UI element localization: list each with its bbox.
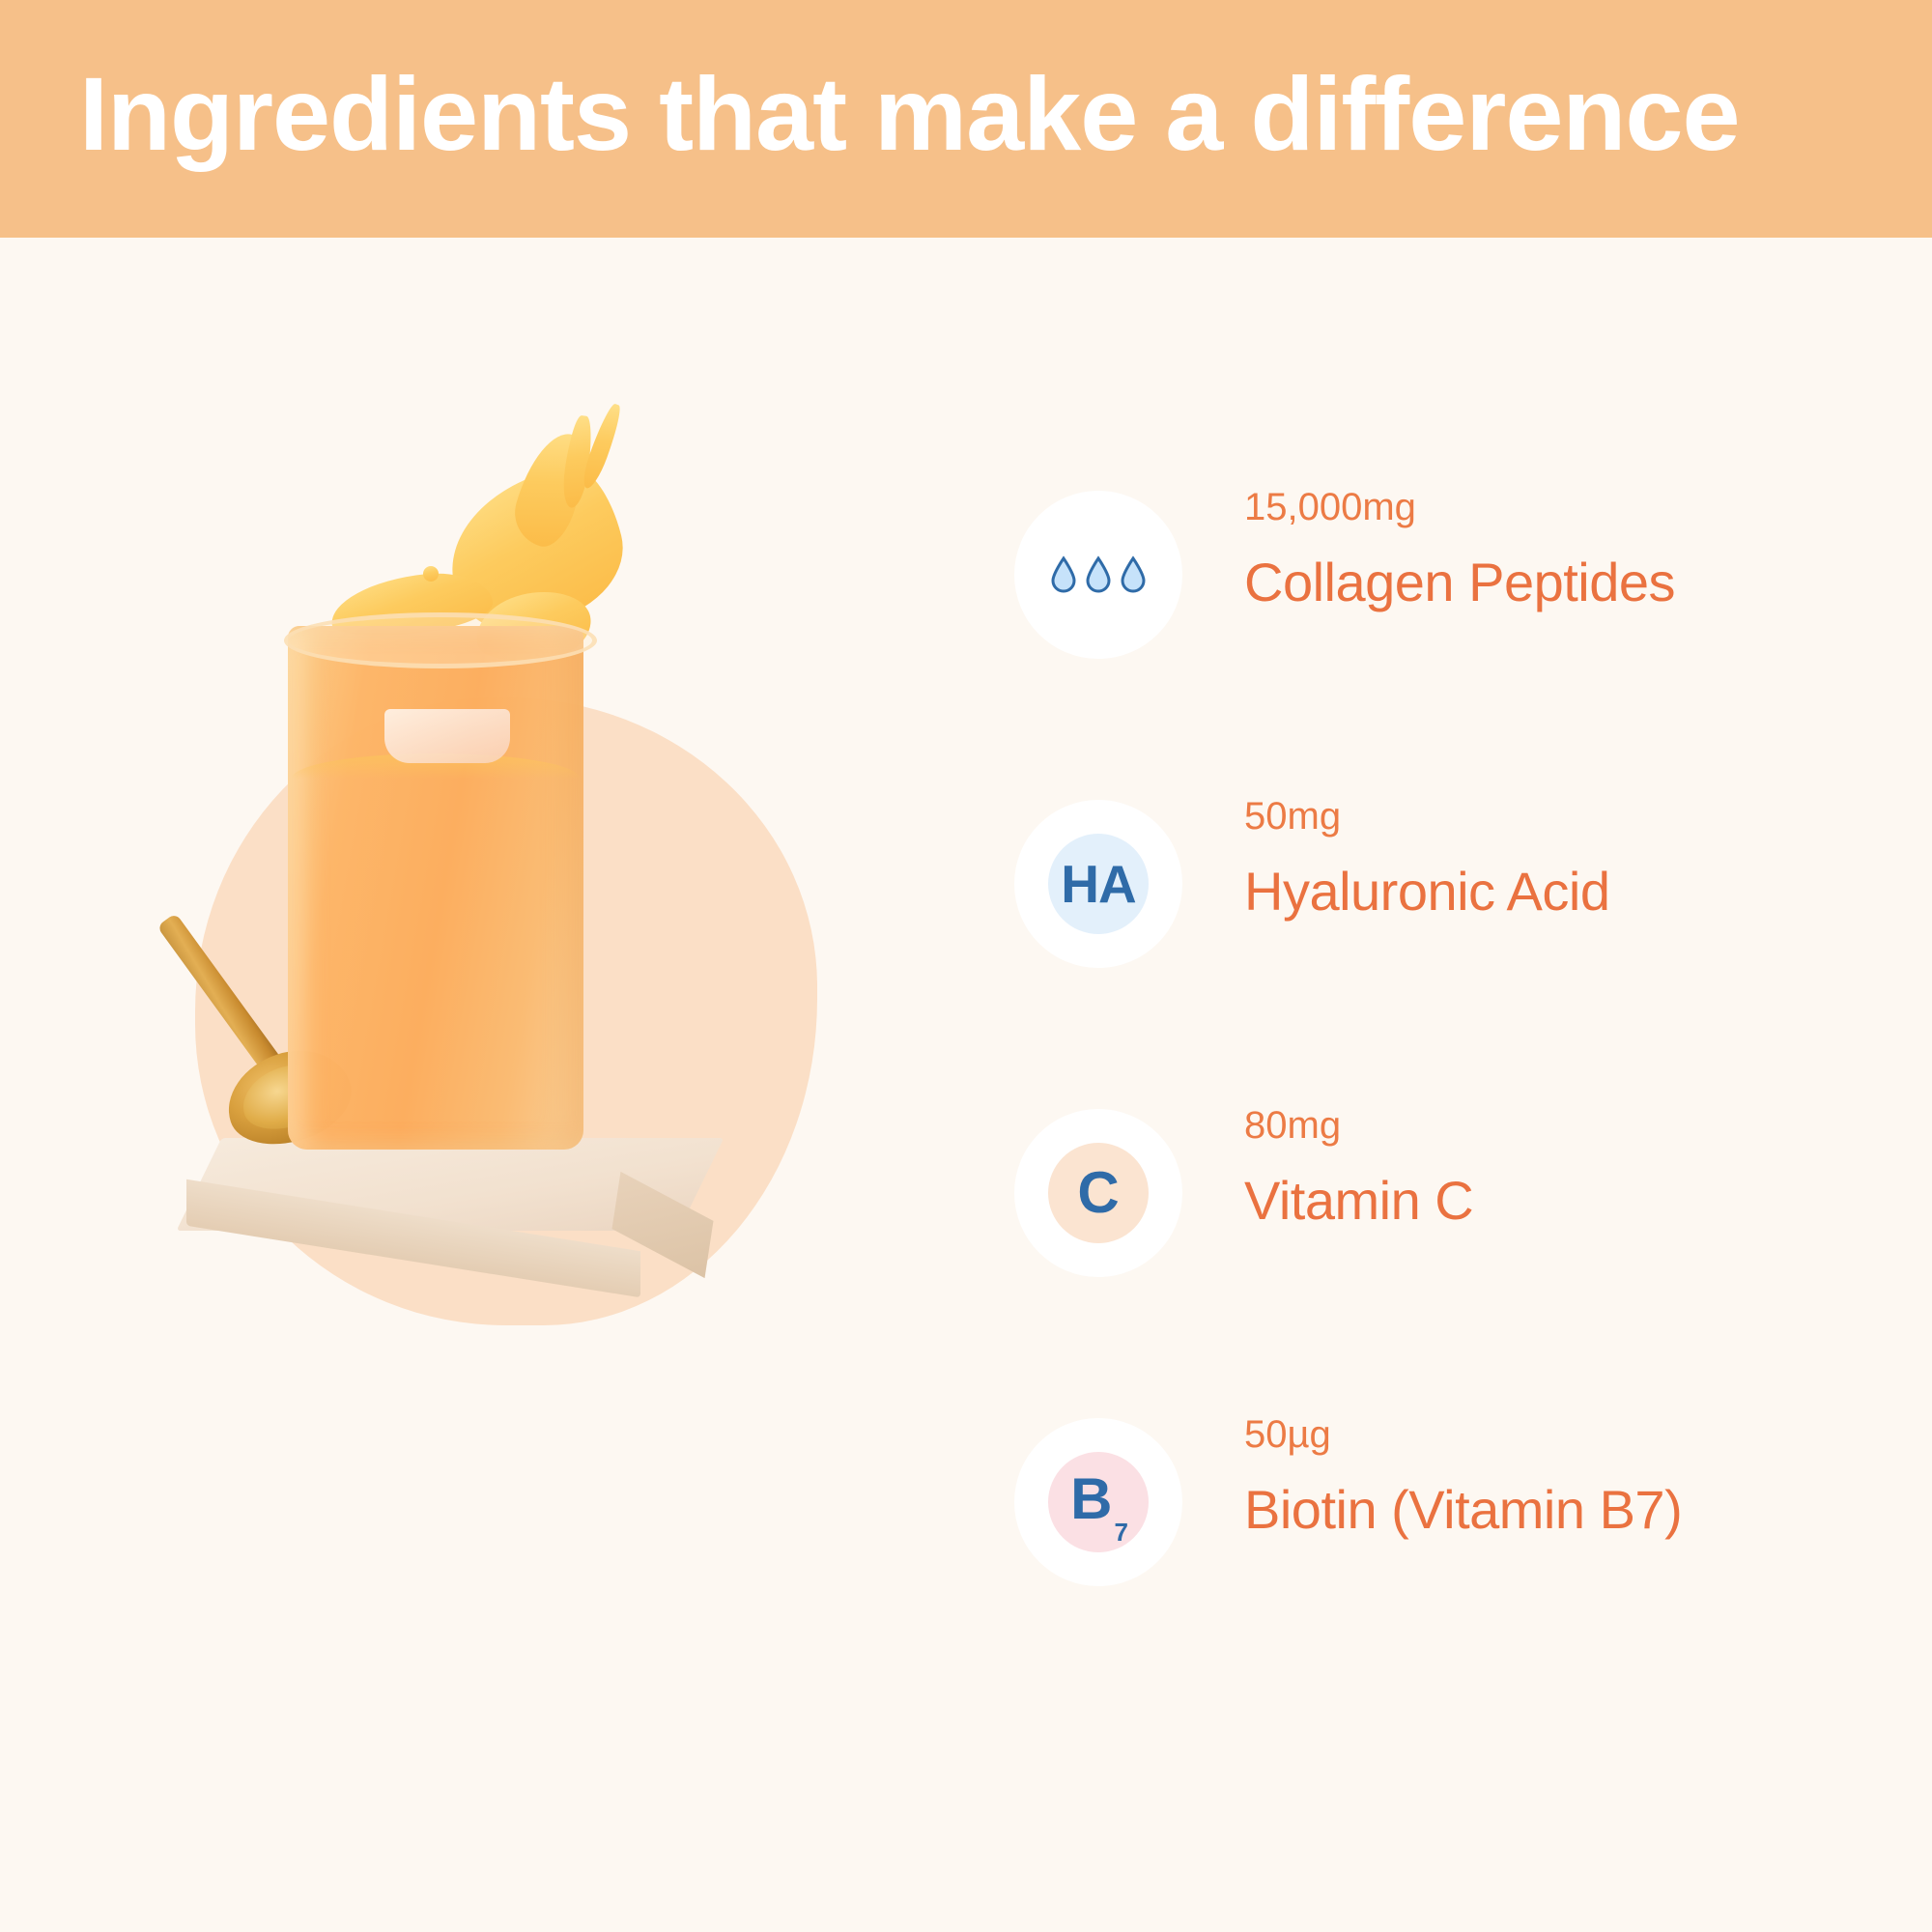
- splash-droplet: [423, 566, 439, 582]
- vitamin-b7-letter-icon: B7: [1070, 1470, 1126, 1535]
- water-droplet-icon: [1084, 555, 1113, 594]
- ingredient-name: Vitamin C: [1244, 1163, 1473, 1238]
- biotin-icon-badge: B7: [1014, 1418, 1182, 1586]
- glass-rim: [284, 612, 597, 668]
- hyaluronic-acid-text-block: 50mg Hyaluronic Acid: [1244, 792, 1609, 929]
- vitamin-c-icon-accent-circle: C: [1048, 1143, 1149, 1243]
- stone-coaster: [182, 1138, 715, 1293]
- collagen-text-block: 15,000mg Collagen Peptides: [1244, 483, 1675, 620]
- ingredient-name: Hyaluronic Acid: [1244, 854, 1609, 929]
- drinking-glass: [288, 626, 583, 1150]
- biotin-icon-accent-circle: B7: [1048, 1452, 1149, 1552]
- vitamin-c-letter-icon: C: [1077, 1164, 1119, 1222]
- ha-letters-icon: HA: [1061, 858, 1135, 911]
- ingredient-item-vitamin-c: C 80mg Vitamin C: [1014, 1101, 1884, 1339]
- ingredient-item-collagen-peptides: 15,000mg Collagen Peptides: [1014, 483, 1884, 721]
- vitamin-c-icon-badge: C: [1014, 1109, 1182, 1277]
- infographic-page: Ingredients that make a difference: [0, 0, 1932, 1932]
- ingredient-dose: 80mg: [1244, 1101, 1473, 1150]
- vitamin-c-text-block: 80mg Vitamin C: [1244, 1101, 1473, 1238]
- glass-body: [288, 626, 583, 1150]
- ingredient-name: Collagen Peptides: [1244, 545, 1675, 620]
- b-subscript-7: 7: [1114, 1518, 1127, 1547]
- b-letter: B: [1070, 1466, 1112, 1531]
- ingredient-item-biotin: B7 50µg Biotin (Vitamin B7): [1014, 1410, 1884, 1648]
- product-image: [145, 541, 918, 1372]
- ice-cube: [384, 709, 510, 763]
- collagen-icon-badge: [1014, 491, 1182, 659]
- page-title: Ingredients that make a difference: [79, 46, 1740, 182]
- water-droplets-icon: [1049, 555, 1148, 594]
- header-band: Ingredients that make a difference: [0, 0, 1932, 238]
- ha-icon-accent-circle: HA: [1048, 834, 1149, 934]
- ingredient-item-hyaluronic-acid: HA 50mg Hyaluronic Acid: [1014, 792, 1884, 1030]
- biotin-text-block: 50µg Biotin (Vitamin B7): [1244, 1410, 1682, 1548]
- water-droplet-icon: [1119, 555, 1148, 594]
- water-droplet-icon: [1049, 555, 1078, 594]
- ingredient-name: Biotin (Vitamin B7): [1244, 1472, 1682, 1548]
- ingredient-dose: 15,000mg: [1244, 483, 1675, 531]
- ingredient-dose: 50mg: [1244, 792, 1609, 840]
- ingredient-list: 15,000mg Collagen Peptides HA 50mg Hyalu…: [1014, 483, 1884, 1648]
- hyaluronic-acid-icon-badge: HA: [1014, 800, 1182, 968]
- ingredient-dose: 50µg: [1244, 1410, 1682, 1459]
